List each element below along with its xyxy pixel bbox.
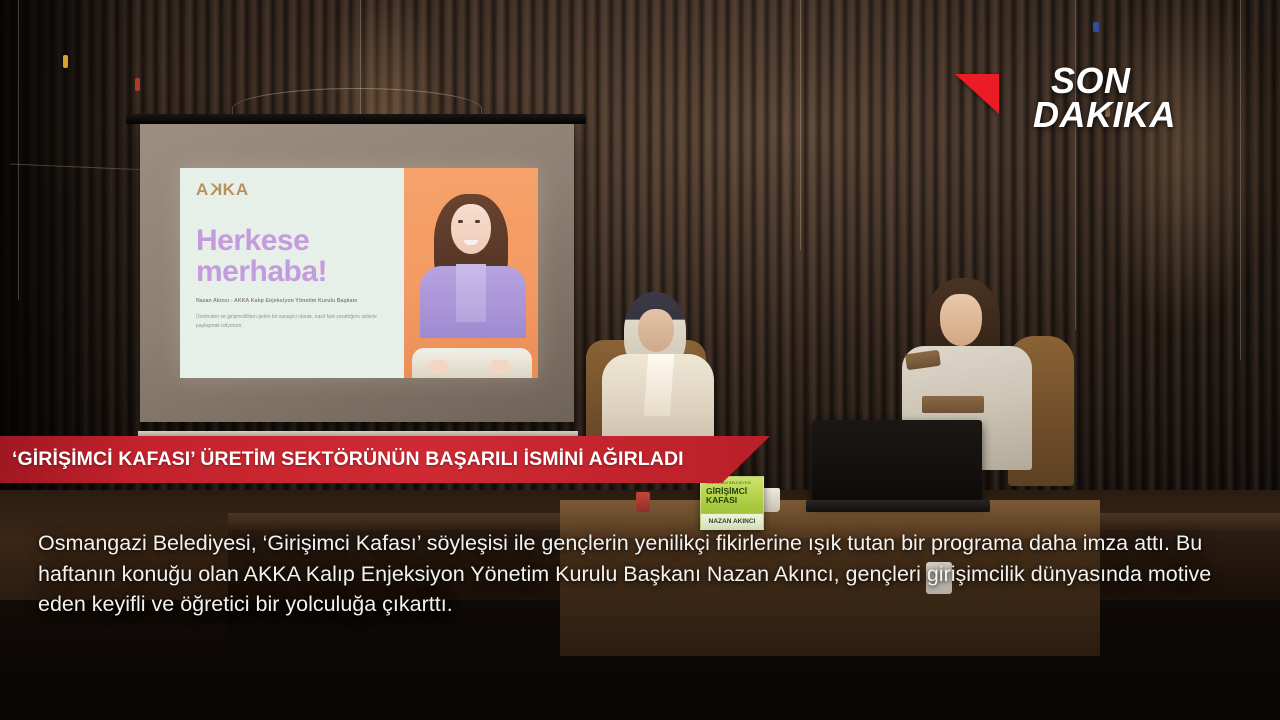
slide-title-line2: merhaba!	[196, 257, 404, 288]
brand-line-1: SON	[1051, 64, 1176, 98]
screen-top-bar	[126, 114, 586, 124]
slide-title: Herkese merhaba!	[196, 226, 404, 287]
news-image-card: AKKA Herkese merhaba! Nazan Akıncı - AKK…	[0, 0, 1280, 720]
name-card-speaker: NAZAN AKINCI	[709, 518, 756, 525]
hanging-wire	[800, 0, 801, 250]
laptop-screen	[812, 420, 982, 504]
logo-letter-a1: A	[196, 180, 209, 199]
portrait-eye-left	[458, 220, 463, 223]
speaker-face	[940, 294, 982, 346]
headline-text: ‘GİRİŞİMCİ KAFASI’ ÜRETİM SEKTÖRÜNÜN BAŞ…	[0, 448, 684, 471]
portrait-hand-left	[428, 360, 448, 374]
name-card-title: GİRİŞİMCİ KAFASI	[706, 487, 759, 504]
clip-yellow-icon	[63, 55, 68, 68]
cup-red	[636, 492, 650, 512]
cup-white	[762, 488, 780, 512]
moderator-face	[638, 309, 674, 352]
moderator-lapel	[644, 354, 674, 416]
brand-line-2: DAKIKA	[1033, 98, 1176, 132]
hanging-wire	[18, 0, 19, 300]
logo-letter-k1: K	[209, 180, 222, 200]
akka-logo: AKKA	[196, 180, 404, 200]
slide-text-column: AKKA Herkese merhaba! Nazan Akıncı - AKK…	[180, 168, 404, 378]
red-triangle-icon	[955, 74, 999, 114]
logo-letter-k2: K	[223, 180, 236, 199]
portrait-shirt	[456, 264, 486, 322]
projection-screen: AKKA Herkese merhaba! Nazan Akıncı - AKK…	[132, 114, 580, 432]
portrait-hand-right	[490, 360, 510, 374]
channel-logo: SON DAKIKA	[955, 64, 1205, 156]
portrait-face	[451, 204, 491, 254]
slide-body-text: Üretimden ve girişimcilikten gelen bir s…	[196, 313, 382, 332]
brand-wordmark: SON DAKIKA	[1051, 64, 1176, 132]
name-card: OSMANGAZİ BELEDİYESİ GİRİŞİMCİ KAFASI NA…	[700, 476, 764, 530]
clip-red-icon	[135, 78, 140, 91]
logo-letter-a2: A	[236, 180, 249, 199]
slide-title-line1: Herkese	[196, 226, 404, 257]
hanging-wire	[1240, 0, 1241, 360]
slide-subtitle: Nazan Akıncı - AKKA Kalıp Enjeksiyon Yön…	[196, 298, 404, 304]
summary-paragraph: Osmangazi Belediyesi, ‘Girişimci Kafası’…	[38, 528, 1242, 620]
hanging-wire	[1075, 0, 1076, 330]
slide-portrait-photo	[404, 168, 538, 378]
headline-banner: ‘GİRİŞİMCİ KAFASI’ ÜRETİM SEKTÖRÜNÜN BAŞ…	[0, 436, 770, 483]
name-card-name-strip: NAZAN AKINCI	[701, 513, 763, 529]
clip-blue-icon	[1093, 22, 1099, 32]
screen-canvas: AKKA Herkese merhaba! Nazan Akıncı - AKK…	[140, 124, 574, 422]
presentation-slide: AKKA Herkese merhaba! Nazan Akıncı - AKK…	[180, 168, 538, 378]
portrait-eye-right	[475, 220, 480, 223]
speaker-pocket-trim	[922, 396, 984, 413]
laptop-base	[806, 500, 990, 512]
